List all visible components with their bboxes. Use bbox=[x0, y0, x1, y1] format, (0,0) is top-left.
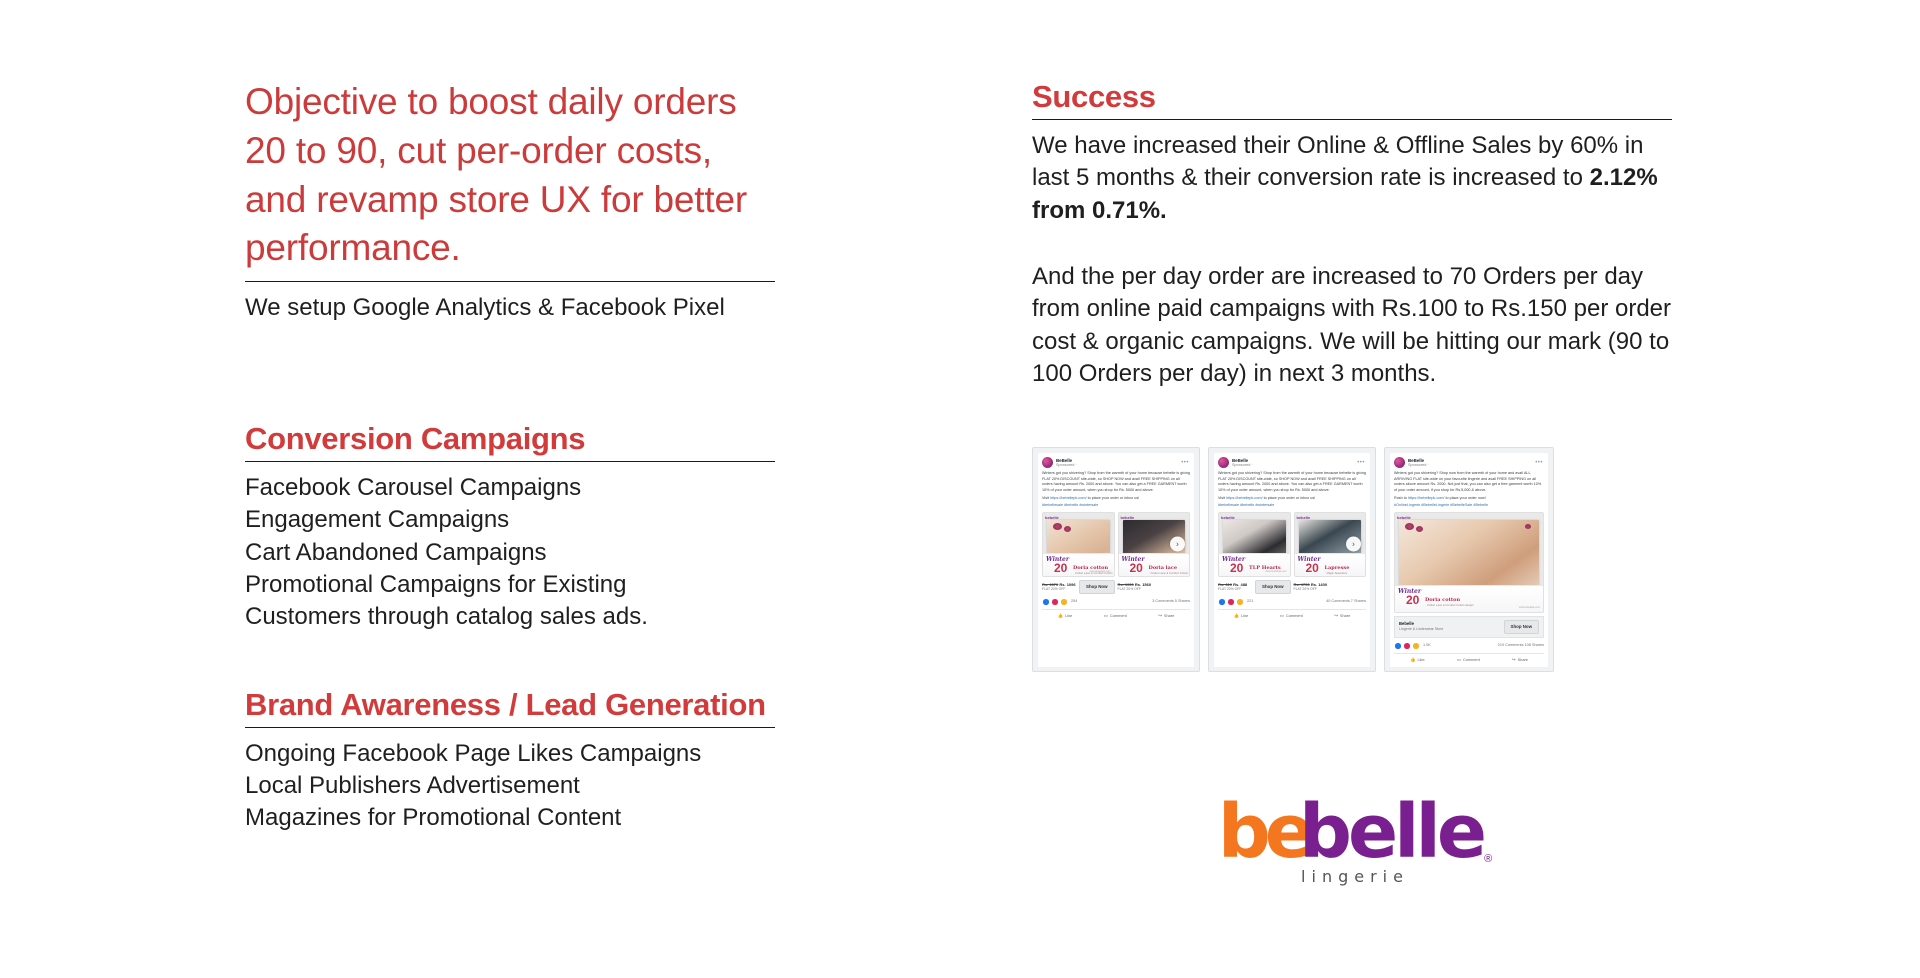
comments-shares-count: 3 Comments 5 Shares bbox=[1152, 599, 1190, 605]
like-reaction-icon bbox=[1042, 598, 1050, 606]
ad-action-bar: 👍 Like ▭ Comment ↪ Share bbox=[1042, 613, 1190, 619]
logo-mark: bebelle® bbox=[1255, 795, 1455, 865]
objective-divider bbox=[245, 281, 775, 282]
page-avatar bbox=[1394, 457, 1405, 468]
reaction-count: 254 bbox=[1071, 599, 1077, 605]
discount-label: FLAT 20% OFF bbox=[1294, 587, 1328, 591]
love-reaction-icon bbox=[1227, 598, 1235, 606]
visit-prefix: Visit bbox=[1218, 496, 1226, 500]
ad-copy-text: Winters got you shivering? Shop from the… bbox=[1218, 471, 1366, 494]
brand-logo-overlay: bebelle bbox=[1221, 515, 1235, 521]
price-cell: Rs. 1950 Rs. 1560 FLAT 20% OFF bbox=[1118, 580, 1191, 594]
promo-banner: Winter 20 TLP Hearts www.bebellepk.com bbox=[1219, 553, 1290, 576]
share-icon: ↪ bbox=[1334, 613, 1338, 619]
floral-decoration bbox=[1525, 524, 1531, 529]
shop-now-button[interactable]: Shop Now bbox=[1079, 580, 1114, 594]
banner-url: www.bebellepk.com bbox=[1265, 570, 1286, 573]
ad-header: BeBelle Sponsored · ••• bbox=[1042, 457, 1190, 468]
slide-canvas: Objective to boost daily orders 20 to 90… bbox=[0, 0, 1920, 978]
brand-divider bbox=[245, 727, 775, 728]
banner-url: www.bebellepk.com bbox=[1089, 570, 1110, 573]
like-label: Like bbox=[1418, 657, 1425, 663]
more-options-icon[interactable]: ••• bbox=[1357, 459, 1365, 468]
ad-inner: BeBelle Sponsored · ••• Winters got you … bbox=[1390, 453, 1548, 667]
ad-inner: BeBelle Sponsored · ••• Winters got you … bbox=[1214, 453, 1370, 667]
list-item: Promotional Campaigns for Existing Custo… bbox=[245, 569, 775, 634]
page-avatar bbox=[1218, 457, 1229, 468]
facebook-ad-screenshots: BeBelle Sponsored · ••• Winters got you … bbox=[1032, 447, 1554, 672]
ad-engagement-stats: 221 40 Comments 7 Shares bbox=[1218, 598, 1366, 610]
comment-icon: ▭ bbox=[1280, 613, 1284, 619]
brand-logo-overlay: bebelle bbox=[1397, 515, 1411, 521]
share-label: Share bbox=[1340, 613, 1350, 619]
wow-reaction-icon bbox=[1236, 598, 1244, 606]
carousel-next-icon[interactable]: › bbox=[1170, 537, 1185, 552]
banner-discount-value: 20 bbox=[1054, 562, 1067, 574]
like-button[interactable]: 👍 Like bbox=[1234, 613, 1249, 619]
conversion-campaigns-block: Conversion Campaigns Facebook Carousel C… bbox=[245, 420, 775, 634]
list-item: Engagement Campaigns bbox=[245, 504, 775, 536]
ad-visit-line: Visit https://bebellepk.com/ to place yo… bbox=[1218, 496, 1366, 502]
banner-discount-value: 20 bbox=[1406, 594, 1419, 606]
ad-store-cta-row: Bebelle Lingerie & Underwear Store Shop … bbox=[1394, 616, 1544, 638]
ad-action-bar: 👍 Like ▭ Comment ↪ Share bbox=[1218, 613, 1366, 619]
brand-awareness-list: Ongoing Facebook Page Likes Campaigns Lo… bbox=[245, 738, 775, 835]
success-heading: Success bbox=[1032, 78, 1672, 115]
right-column: Success We have increased their Online &… bbox=[1032, 78, 1672, 390]
discount-label: FLAT 20% OFF bbox=[1042, 587, 1076, 591]
bebelle-logo: bebelle® lingerie bbox=[1255, 795, 1455, 886]
brand-awareness-block: Brand Awareness / Lead Generation Ongoin… bbox=[245, 686, 775, 835]
more-options-icon[interactable]: ••• bbox=[1181, 459, 1189, 468]
like-reaction-icon bbox=[1218, 598, 1226, 606]
objective-heading: Objective to boost daily orders 20 to 90… bbox=[245, 78, 775, 273]
list-item: Cart Abandoned Campaigns bbox=[245, 537, 775, 569]
store-info: Bebelle Lingerie & Underwear Store bbox=[1399, 621, 1443, 632]
ad-link[interactable]: https://bebellepk.com/ bbox=[1050, 496, 1086, 500]
list-item: Magazines for Promotional Content bbox=[245, 802, 775, 834]
list-item: Local Publishers Advertisement bbox=[245, 770, 775, 802]
brand-logo-overlay: bebelle bbox=[1121, 515, 1135, 521]
carousel-next-icon[interactable]: › bbox=[1346, 537, 1361, 552]
floral-decoration bbox=[1416, 526, 1423, 532]
like-button[interactable]: 👍 Like bbox=[1410, 657, 1425, 663]
comment-label: Comment bbox=[1286, 613, 1303, 619]
objective-note: We setup Google Analytics & Facebook Pix… bbox=[245, 292, 775, 324]
banner-discount-value: 20 bbox=[1230, 562, 1243, 574]
reaction-icons: 221 bbox=[1218, 598, 1253, 606]
ad-action-bar: 👍 Like ▭ Comment ↪ Share bbox=[1394, 657, 1544, 663]
shop-now-button[interactable]: Shop Now bbox=[1504, 620, 1539, 634]
ad-header: BeBelle Sponsored · ••• bbox=[1218, 457, 1366, 468]
ad-engagement-stats: 254 3 Comments 5 Shares bbox=[1042, 598, 1190, 610]
thumbs-up-icon: 👍 bbox=[1058, 613, 1063, 619]
wow-reaction-icon bbox=[1412, 642, 1420, 650]
visit-suffix: to place your order now! bbox=[1444, 496, 1485, 500]
ad-hashtags[interactable]: #bebellesale #bebelle #wintersale bbox=[1218, 503, 1366, 509]
store-category: Lingerie & Underwear Store bbox=[1399, 627, 1443, 632]
comments-shares-count: 210 Comments 108 Shares bbox=[1498, 643, 1544, 649]
promo-banner: Winter 20 Doria cotton Cotton Lace & Com… bbox=[1395, 585, 1543, 612]
ad-carousel: bebelle Winter 20 Doria cotton Cotton La… bbox=[1042, 512, 1190, 577]
comment-button[interactable]: ▭ Comment bbox=[1280, 613, 1303, 619]
brand-logo-overlay: bebelle bbox=[1297, 515, 1311, 521]
banner-discount-value: 20 bbox=[1306, 562, 1319, 574]
brand-logo-overlay: bebelle bbox=[1045, 515, 1059, 521]
like-label: Like bbox=[1241, 613, 1248, 619]
carousel-item[interactable]: bebelle Winter 20 Doria cotton Cotton La… bbox=[1042, 512, 1115, 577]
page-avatar bbox=[1042, 457, 1053, 468]
ad-inner: BeBelle Sponsored · ••• Winters got you … bbox=[1038, 453, 1194, 667]
visit-suffix: to place your order or inbox us! bbox=[1087, 496, 1140, 500]
reaction-icons: 1.0K bbox=[1394, 642, 1431, 650]
promo-banner: Winter 20 Doria lace Cotton Lace & Comfo… bbox=[1119, 553, 1190, 576]
comment-label: Comment bbox=[1463, 657, 1480, 663]
left-column: Objective to boost daily orders 20 to 90… bbox=[245, 78, 775, 834]
like-button[interactable]: 👍 Like bbox=[1058, 613, 1073, 619]
ad-copy-text: Winters got you shivering? Shop from the… bbox=[1042, 471, 1190, 494]
banner-product-sub: Magic Seamless bbox=[1327, 571, 1348, 575]
share-icon: ↪ bbox=[1158, 613, 1162, 619]
comment-button[interactable]: ▭ Comment bbox=[1104, 613, 1127, 619]
success-paragraph-1: We have increased their Online & Offline… bbox=[1032, 130, 1672, 227]
logo-be-monogram: be bbox=[1218, 801, 1309, 865]
comment-icon: ▭ bbox=[1457, 657, 1461, 663]
success-paragraph-1-text: We have increased their Online & Offline… bbox=[1032, 132, 1643, 191]
brand-awareness-heading: Brand Awareness / Lead Generation bbox=[245, 686, 775, 723]
conversion-divider bbox=[245, 461, 775, 462]
share-button[interactable]: ↪ Share bbox=[1512, 657, 1528, 663]
discount-label: FLAT 20% OFF bbox=[1118, 587, 1152, 591]
comment-button[interactable]: ▭ Comment bbox=[1457, 657, 1480, 663]
thumbs-up-icon: 👍 bbox=[1234, 613, 1239, 619]
ad-copy-text: Winters got you shivering? Shop now from… bbox=[1394, 471, 1544, 494]
visit-prefix: Visit bbox=[1042, 496, 1050, 500]
like-label: Like bbox=[1065, 613, 1072, 619]
ad-link[interactable]: https://bebellepk.com/ bbox=[1408, 496, 1444, 500]
ad-hashtags[interactable]: #OnlineLingerie #BebelleLingerie #Bebell… bbox=[1394, 503, 1544, 509]
share-label: Share bbox=[1164, 613, 1174, 619]
comment-label: Comment bbox=[1110, 613, 1127, 619]
price-cell: Rs. 1370 Rs. 1096 FLAT 20% OFF Shop Now bbox=[1042, 580, 1115, 594]
banner-product-sub: Cotton Lace & Comfort Cotton bbox=[1151, 571, 1188, 575]
list-item: Ongoing Facebook Page Likes Campaigns bbox=[245, 738, 775, 770]
ad-media-single: bebelle Winter 20 Doria cotton Cotton La… bbox=[1394, 512, 1544, 613]
reaction-icons: 254 bbox=[1042, 598, 1077, 606]
price-block: Rs. 1370 Rs. 1096 FLAT 20% OFF bbox=[1042, 582, 1076, 591]
ad-screenshot-2[interactable]: BeBelle Sponsored · ••• Winters got you … bbox=[1208, 447, 1376, 672]
share-label: Share bbox=[1518, 657, 1528, 663]
sponsored-label: Sponsored · bbox=[1232, 463, 1253, 468]
ad-screenshot-3[interactable]: BeBelle Sponsored · ••• Winters got you … bbox=[1384, 447, 1554, 672]
thumbs-up-icon: 👍 bbox=[1410, 657, 1415, 663]
price-block: Rs. 1950 Rs. 1560 FLAT 20% OFF bbox=[1118, 582, 1152, 591]
ad-price-row: Rs. 1370 Rs. 1096 FLAT 20% OFF Shop Now … bbox=[1042, 580, 1190, 594]
discount-label: FLAT 20% OFF bbox=[1218, 587, 1247, 591]
ad-visit-line: Rush to https://bebellepk.com/ to place … bbox=[1394, 496, 1544, 502]
like-reaction-icon bbox=[1394, 642, 1402, 650]
ad-carousel: bebelle Winter 20 TLP Hearts www.bebelle… bbox=[1218, 512, 1366, 577]
price-block: Rs. 610 Rs. 488 FLAT 20% OFF bbox=[1218, 582, 1247, 591]
product-image-container[interactable]: bebelle Winter 20 Doria cotton Cotton La… bbox=[1394, 512, 1544, 613]
list-item: Facebook Carousel Campaigns bbox=[245, 472, 775, 504]
ad-header: BeBelle Sponsored · ••• bbox=[1394, 457, 1544, 468]
ad-identity: BeBelle Sponsored · bbox=[1056, 458, 1077, 468]
price-block: Rs. 1750 Rs. 1400 FLAT 20% OFF bbox=[1294, 582, 1328, 591]
floral-decoration bbox=[1405, 523, 1414, 530]
ad-identity: BeBelle Sponsored · bbox=[1408, 458, 1429, 468]
price-cell: Rs. 1750 Rs. 1400 FLAT 20% OFF bbox=[1294, 580, 1367, 594]
visit-prefix: Rush to bbox=[1394, 496, 1408, 500]
ad-visit-line: Visit https://bebellepk.com/ to place yo… bbox=[1042, 496, 1190, 502]
banner-discount-value: 20 bbox=[1130, 562, 1143, 574]
price-cell: Rs. 610 Rs. 488 FLAT 20% OFF Shop Now bbox=[1218, 580, 1291, 594]
ad-price-row: Rs. 610 Rs. 488 FLAT 20% OFF Shop Now Rs… bbox=[1218, 580, 1366, 594]
reaction-count: 1.0K bbox=[1423, 643, 1431, 649]
ad-hashtags[interactable]: #bebellesale #bebelle #wintersale bbox=[1042, 503, 1190, 509]
carousel-item[interactable]: bebelle Winter 20 TLP Hearts www.bebelle… bbox=[1218, 512, 1291, 577]
sponsored-label: Sponsored · bbox=[1056, 463, 1077, 468]
sponsored-label: Sponsored · bbox=[1408, 463, 1429, 468]
share-icon: ↪ bbox=[1512, 657, 1516, 663]
floral-decoration bbox=[1053, 523, 1062, 530]
success-paragraph-2: And the per day order are increased to 7… bbox=[1032, 261, 1672, 390]
banner-product-sub: Cotton Lace & Comfort Cotton design bbox=[1427, 603, 1474, 607]
wow-reaction-icon bbox=[1060, 598, 1068, 606]
ad-engagement-stats: 1.0K 210 Comments 108 Shares bbox=[1394, 642, 1544, 654]
share-button[interactable]: ↪ Share bbox=[1334, 613, 1350, 619]
visit-suffix: to place your order or inbox us! bbox=[1263, 496, 1316, 500]
registered-trademark-icon: ® bbox=[1484, 853, 1492, 865]
ad-identity: BeBelle Sponsored · bbox=[1232, 458, 1253, 468]
conversion-campaigns-heading: Conversion Campaigns bbox=[245, 420, 775, 457]
promo-banner: Winter 20 Doria cotton Cotton Lace & Com… bbox=[1043, 553, 1114, 576]
ad-link[interactable]: https://bebellepk.com/ bbox=[1226, 496, 1262, 500]
comments-shares-count: 40 Comments 7 Shares bbox=[1326, 599, 1366, 605]
logo-belle-wordmark: belle bbox=[1299, 801, 1483, 865]
love-reaction-icon bbox=[1403, 642, 1411, 650]
success-divider bbox=[1032, 119, 1672, 120]
shop-now-button[interactable]: Shop Now bbox=[1255, 580, 1290, 594]
comment-icon: ▭ bbox=[1104, 613, 1108, 619]
conversion-campaigns-list: Facebook Carousel Campaigns Engagement C… bbox=[245, 472, 775, 633]
promo-banner: Winter 20 Lapresse Magic Seamless bbox=[1295, 553, 1366, 576]
love-reaction-icon bbox=[1051, 598, 1059, 606]
ad-screenshot-1[interactable]: BeBelle Sponsored · ••• Winters got you … bbox=[1032, 447, 1200, 672]
floral-decoration bbox=[1064, 526, 1071, 532]
share-button[interactable]: ↪ Share bbox=[1158, 613, 1174, 619]
reaction-count: 221 bbox=[1247, 599, 1253, 605]
more-options-icon[interactable]: ••• bbox=[1535, 459, 1543, 468]
banner-url: www.bebellepk.com bbox=[1519, 606, 1540, 609]
